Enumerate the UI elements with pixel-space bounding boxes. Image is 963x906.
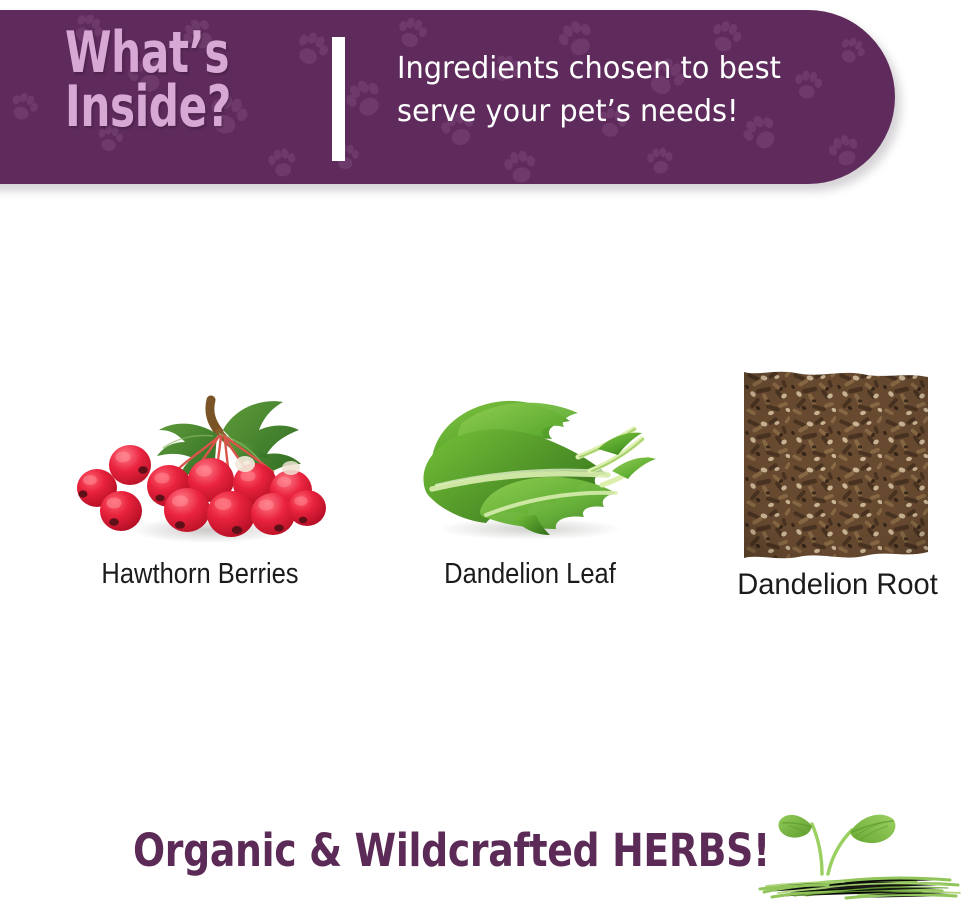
ingredient-item-dandelion-root: Dandelion Root: [712, 360, 963, 610]
sprout-plant-icon: [778, 810, 896, 876]
header-subtitle: Ingredients chosen to best serve your pe…: [397, 48, 810, 133]
ingredient-label-dandelion-leaf: Dandelion Leaf: [409, 558, 652, 591]
page-title: What’s Inside?: [65, 26, 235, 134]
header-content: What’s Inside? Ingredients chosen to bes…: [0, 10, 895, 184]
vertical-divider-icon: [332, 37, 345, 161]
footer-tagline: Organic & Wildcrafted HERBS!: [133, 828, 770, 873]
header-banner: What’s Inside? Ingredients chosen to bes…: [0, 10, 895, 184]
hawthorn-berries-photo-icon: [59, 380, 339, 555]
ingredient-item-hawthorn-berries: Hawthorn Berries: [45, 360, 355, 610]
footer-lockup: Organic & Wildcrafted HERBS!: [0, 806, 963, 906]
dandelion-leaf-photo-icon: [402, 393, 660, 548]
ingredients-row: Hawthorn Berries: [0, 360, 963, 610]
ingredient-label-dandelion-root: Dandelion Root: [716, 568, 959, 602]
ingredient-label-hawthorn-berries: Hawthorn Berries: [64, 558, 337, 591]
ingredient-item-dandelion-leaf: Dandelion Leaf: [392, 360, 668, 610]
dandelion-root-photo-icon: [744, 370, 928, 565]
